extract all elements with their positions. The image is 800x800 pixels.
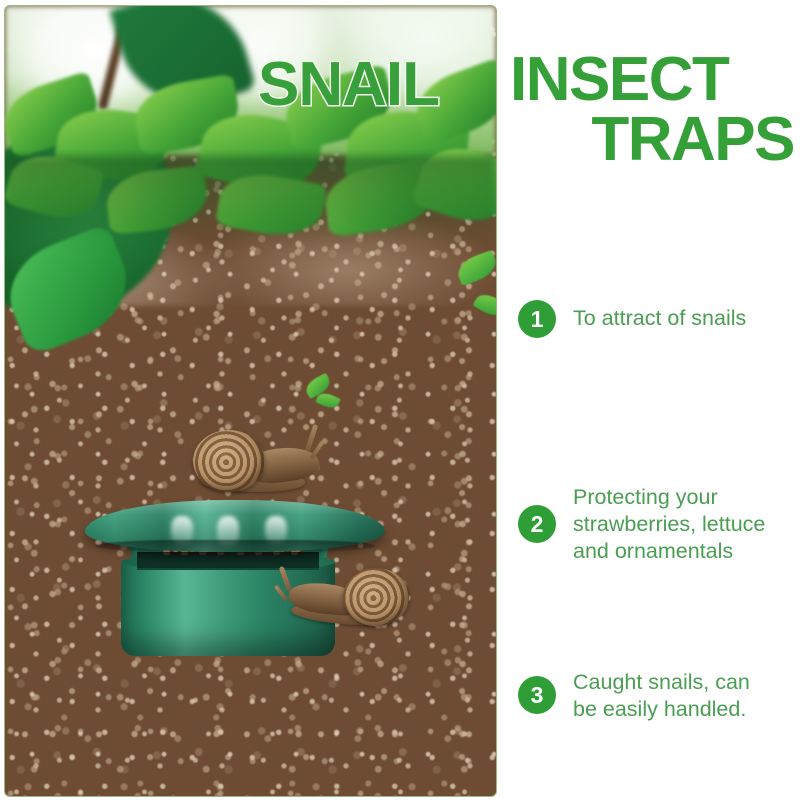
- snail-shell: [343, 568, 409, 626]
- feature-text-2: Protecting your strawberries, lettuce an…: [573, 483, 765, 565]
- title-overlay-word: SNAIL: [258, 54, 439, 116]
- trap-lid-underside: [95, 540, 375, 552]
- product-photo-panel: [4, 5, 497, 797]
- product-infographic: SNAIL INSECT TRAPS 1 To attract of snail…: [0, 0, 800, 800]
- feature-text-1: To attract of snails: [573, 305, 746, 332]
- feature-number-badge-3: 3: [518, 676, 556, 714]
- snail-beside-base: [285, 562, 415, 632]
- feature-item-3: 3 Caught snails, can be easily handled.: [518, 668, 794, 723]
- feature-item-2: 2 Protecting your strawberries, lettuce …: [518, 483, 794, 565]
- snail-on-lid: [185, 426, 325, 498]
- page-title: INSECT TRAPS: [510, 50, 794, 169]
- feature-number-badge-1: 1: [518, 300, 556, 338]
- feature-text-3: Caught snails, can be easily handled.: [573, 668, 750, 723]
- title-line-traps: TRAPS: [510, 110, 794, 170]
- snail-shell: [193, 430, 265, 492]
- foliage-shadow: [5, 156, 496, 246]
- title-line-insect: INSECT: [510, 50, 794, 110]
- feature-item-1: 1 To attract of snails: [518, 300, 794, 338]
- snail-trap-product: [85, 490, 385, 670]
- feature-number-badge-2: 2: [518, 505, 556, 543]
